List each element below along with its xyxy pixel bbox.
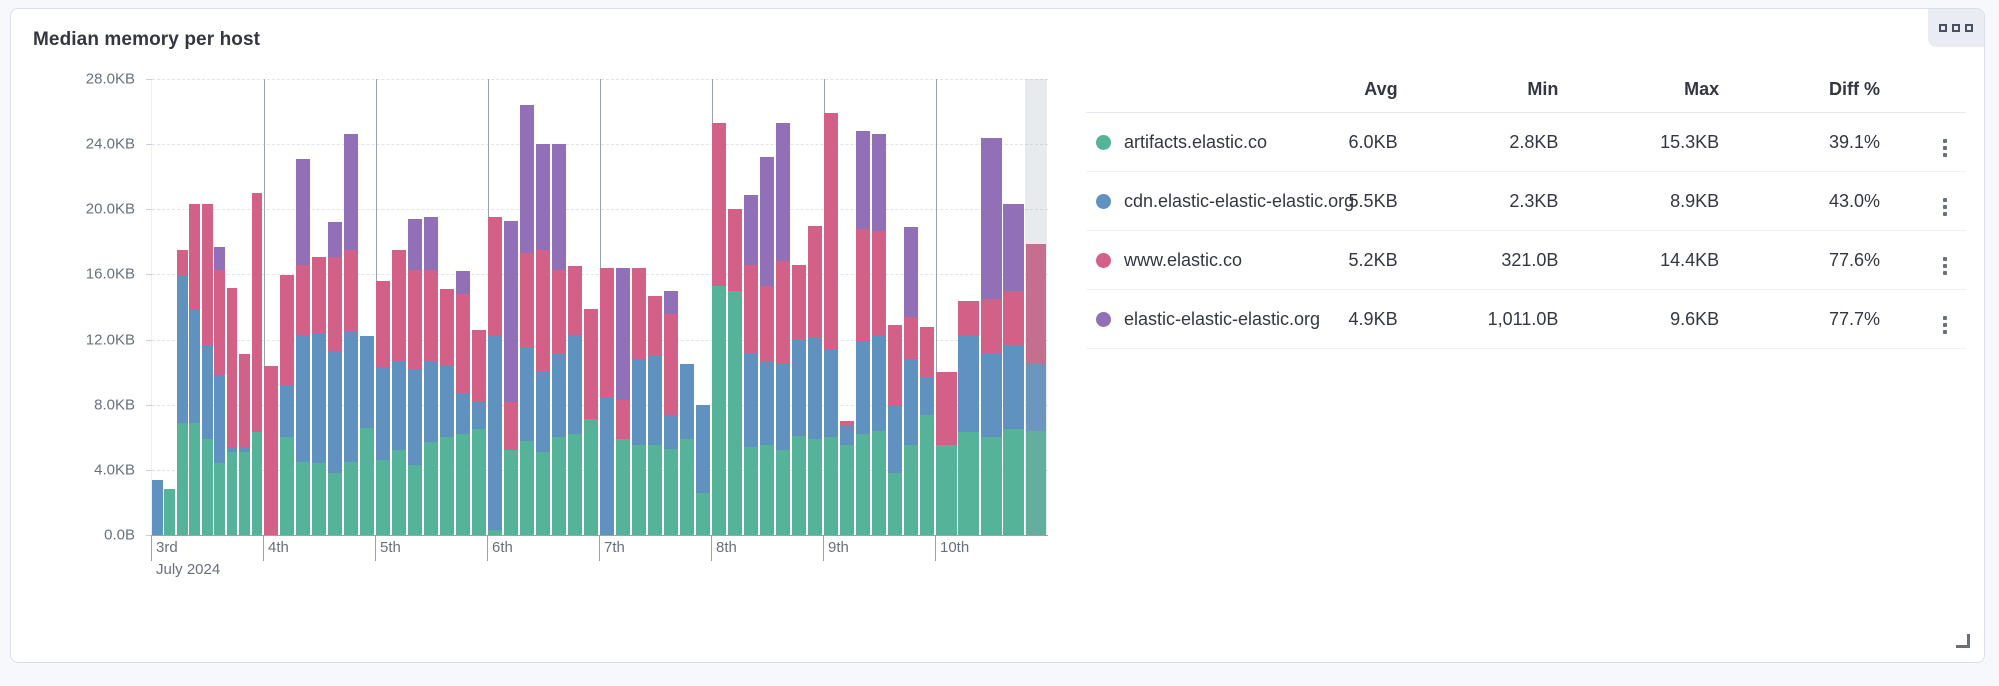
bar-segment [1003, 291, 1024, 345]
bar-segment [456, 294, 470, 393]
bar-segment [792, 436, 806, 535]
bar-stack[interactable] [904, 227, 918, 535]
bar-segment [312, 333, 326, 463]
kebab-dot [1943, 316, 1947, 320]
bar-segment [776, 364, 790, 450]
bar-segment [824, 113, 838, 349]
bar-segment [164, 489, 175, 535]
bar-segment [584, 309, 598, 420]
bar-segment [177, 423, 188, 535]
legend-series-label: cdn.elastic-elastic-elastic.org [1124, 191, 1354, 212]
bar-segment [568, 434, 582, 535]
bar-segment [981, 437, 1002, 535]
bar-segment [392, 450, 406, 535]
bar-segment [252, 193, 263, 432]
bar-stack[interactable] [296, 159, 310, 535]
bar-stack[interactable] [239, 354, 250, 535]
bar-segment [632, 445, 646, 535]
y-tick-label: 4.0KB [94, 461, 135, 478]
y-tick-label: 16.0KB [86, 266, 135, 283]
y-tickmark [146, 340, 152, 341]
bar-segment [504, 450, 518, 535]
bar-segment [344, 134, 358, 250]
x-tick-label: 5th [375, 539, 401, 556]
bar-stack[interactable] [616, 268, 630, 535]
bar-segment [888, 325, 902, 406]
legend-cell-min: 2.3KB [1408, 172, 1569, 231]
bar-segment [981, 299, 1002, 353]
bar-segment [744, 353, 758, 448]
bar-stack[interactable] [488, 217, 502, 535]
bar-segment [958, 336, 979, 432]
bar-stack[interactable] [920, 327, 934, 536]
bar-segment [712, 123, 726, 286]
bar-segment [664, 449, 678, 535]
bar-segment [440, 289, 454, 366]
legend-cell-max: 8.9KB [1568, 172, 1729, 231]
bar-stack[interactable] [664, 291, 678, 535]
bar-stack[interactable] [328, 222, 342, 535]
legend-cell-avg: 5.2KB [1247, 231, 1408, 290]
y-tick-label: 24.0KB [86, 136, 135, 153]
y-tickmark [146, 274, 152, 275]
legend-actions-cell[interactable] [1890, 172, 1966, 231]
legend-cell-diff: 39.1% [1729, 113, 1890, 172]
bar-segment [958, 301, 979, 337]
bar-stack[interactable] [728, 209, 742, 535]
bar-segment [344, 250, 358, 331]
bar-stack[interactable] [680, 364, 694, 535]
bar-segment [958, 432, 979, 535]
legend-cell-diff: 77.7% [1729, 290, 1890, 349]
bar-segment [227, 452, 238, 535]
bar-segment [776, 261, 790, 364]
bar-segment [424, 217, 438, 269]
bar-segment [488, 336, 502, 530]
bar-segment [936, 372, 957, 445]
bar-segment [189, 423, 200, 535]
dashboard-panel: Median memory per host 0.0B4.0KB8.0KB12.… [10, 8, 1985, 663]
bar-segment [328, 222, 342, 256]
bar-segment [904, 359, 918, 445]
legend-color-dot-icon [1096, 312, 1111, 327]
bar-segment [296, 159, 310, 265]
bar-segment [776, 450, 790, 535]
bar-segment [360, 336, 374, 427]
bar-segment [920, 377, 934, 415]
bar-stack[interactable] [252, 193, 263, 535]
bar-segment [904, 227, 918, 317]
bar-stack[interactable] [189, 204, 200, 535]
plot-area[interactable] [151, 79, 1048, 536]
bar-segment [520, 348, 534, 441]
x-tick-label: 6th [487, 539, 513, 556]
bar-segment [584, 419, 598, 535]
bar-segment [408, 369, 422, 465]
bar-segment [536, 250, 550, 371]
bar-segment [552, 437, 566, 535]
legend-header-row: Avg Min Max Diff % [1086, 73, 1966, 113]
bar-segment [696, 405, 710, 493]
bar-segment [872, 336, 886, 431]
legend-cell-min: 2.8KB [1408, 113, 1569, 172]
bar-segment [424, 270, 438, 361]
bar-segment [872, 431, 886, 535]
bar-stack[interactable] [824, 113, 838, 535]
bar-segment [920, 327, 934, 378]
bar-segment [239, 452, 250, 535]
bar-segment [616, 400, 630, 439]
bar-segment [632, 359, 646, 445]
bar-stack[interactable] [520, 105, 534, 535]
chart-container: 0.0B4.0KB8.0KB12.0KB16.0KB20.0KB24.0KB28… [33, 65, 1073, 635]
bar-segment [856, 229, 870, 341]
y-tickmark [146, 79, 152, 80]
resize-bar-horizontal [1956, 645, 1970, 648]
legend-col-min[interactable]: Min [1408, 73, 1569, 113]
y-tickmark [146, 209, 152, 210]
bar-segment [488, 217, 502, 336]
x-tick-label: 7th [599, 539, 625, 556]
x-tick-label: 10th [935, 539, 969, 556]
legend-cell-diff: 77.6% [1729, 231, 1890, 290]
bar-segment [152, 480, 163, 535]
y-tickmark [146, 144, 152, 145]
legend-actions-cell[interactable] [1890, 231, 1966, 290]
grip-square-3 [1965, 24, 1973, 32]
bar-segment [424, 361, 438, 442]
bar-segment [856, 131, 870, 229]
y-tick-label: 12.0KB [86, 331, 135, 348]
bar-stack[interactable] [792, 265, 806, 535]
bar-stack[interactable] [744, 195, 758, 535]
bar-segment [328, 473, 342, 535]
bar-stack[interactable] [152, 480, 163, 535]
legend-actions-cell[interactable] [1890, 290, 1966, 349]
bar-segment [408, 270, 422, 369]
bar-stack[interactable] [632, 268, 646, 535]
bar-segment [392, 361, 406, 451]
bar-stack[interactable] [280, 274, 294, 535]
bar-stack[interactable] [392, 250, 406, 535]
bar-segment [744, 447, 758, 535]
bar-segment [808, 439, 822, 535]
bar-segment [280, 437, 294, 535]
bar-stack[interactable] [600, 268, 614, 535]
legend-col-avg[interactable]: Avg [1247, 73, 1408, 113]
kebab-menu-icon[interactable] [1934, 139, 1956, 157]
bar-stack[interactable] [552, 144, 566, 535]
bar-segment [536, 452, 550, 535]
bar-segment [936, 445, 957, 535]
bar-segment [440, 366, 454, 438]
bar-stack[interactable] [360, 336, 374, 535]
kebab-dot [1943, 198, 1947, 202]
resize-corner-icon[interactable] [1956, 634, 1970, 648]
bar-stack[interactable] [177, 250, 188, 535]
bar-stack[interactable] [776, 123, 790, 535]
bar-segment [872, 230, 886, 336]
y-tick-label: 0.0B [104, 527, 135, 544]
bar-stack[interactable] [408, 219, 422, 535]
bar-segment [904, 445, 918, 535]
bar-segment [552, 270, 566, 355]
bar-segment [981, 353, 1002, 438]
legend-row[interactable]: cdn.elastic-elastic-elastic.org5.5KB2.3K… [1086, 172, 1966, 231]
bar-segment [408, 465, 422, 535]
legend-series-name-cell[interactable]: artifacts.elastic.co [1086, 113, 1247, 172]
bar-segment [239, 447, 250, 452]
x-tick-label: 9th [823, 539, 849, 556]
bar-segment [824, 349, 838, 437]
bar-segment [792, 265, 806, 340]
legend-col-max[interactable]: Max [1568, 73, 1729, 113]
bar-segment [920, 415, 934, 536]
y-tick-label: 8.0KB [94, 396, 135, 413]
bar-segment [472, 330, 486, 402]
bar-segment [328, 257, 342, 352]
screen: Median memory per host 0.0B4.0KB8.0KB12.… [0, 0, 1999, 686]
bar-stack[interactable] [648, 296, 662, 535]
y-tick-label: 28.0KB [86, 71, 135, 88]
bar-segment [189, 204, 200, 308]
bar-segment [214, 463, 225, 535]
bar-segment [520, 105, 534, 253]
y-tick-label: 20.0KB [86, 201, 135, 218]
bar-segment [1003, 429, 1024, 535]
bar-segment [568, 335, 582, 434]
bar-segment [456, 271, 470, 294]
bar-segment [296, 265, 310, 335]
bar-segment [472, 429, 486, 535]
bar-segment [392, 250, 406, 361]
bar-segment [760, 362, 774, 445]
legend-col-actions [1890, 73, 1966, 113]
bar-segment [227, 288, 238, 448]
bar-segment [840, 445, 854, 535]
bar-segment [680, 364, 694, 439]
x-tick-label: 3rd [151, 539, 178, 556]
bar-stack[interactable] [958, 301, 979, 536]
bar-stack[interactable] [840, 421, 854, 535]
kebab-dot [1943, 257, 1947, 261]
kebab-dot [1943, 264, 1947, 268]
legend-series-label: artifacts.elastic.co [1124, 132, 1267, 153]
kebab-dot [1943, 146, 1947, 150]
kebab-menu-icon[interactable] [1934, 316, 1956, 334]
bar-stack[interactable] [1003, 204, 1024, 535]
legend-table: Avg Min Max Diff % artifacts.elastic.co6… [1086, 73, 1966, 349]
bar-stack[interactable] [536, 144, 550, 535]
bar-stack[interactable] [164, 489, 175, 535]
bar-segment [227, 447, 238, 452]
legend-cell-max: 14.4KB [1568, 231, 1729, 290]
bar-segment [520, 253, 534, 348]
bar-segment [600, 268, 614, 397]
bar-segment [712, 286, 726, 535]
y-tickmark [146, 470, 152, 471]
bar-stack[interactable] [760, 157, 774, 535]
bar-stack[interactable] [344, 134, 358, 535]
bar-segment [1003, 204, 1024, 290]
legend-row[interactable]: elastic-elastic-elastic.org4.9KB1,011.0B… [1086, 290, 1966, 349]
bar-stack[interactable] [440, 289, 454, 535]
legend-cell-min: 321.0B [1408, 231, 1569, 290]
bar-stack[interactable] [808, 226, 822, 535]
bar-segment [1003, 344, 1024, 429]
kebab-dot [1943, 330, 1947, 334]
bar-stack[interactable] [936, 372, 957, 535]
bar-segment [376, 367, 390, 460]
bar-stack[interactable] [696, 405, 710, 535]
bar-segment [744, 195, 758, 265]
bar-stack[interactable] [456, 271, 470, 535]
bar-stack[interactable] [504, 221, 518, 535]
legend-series-name-cell[interactable]: elastic-elastic-elastic.org [1086, 290, 1247, 349]
bar-segment [760, 157, 774, 286]
legend-col-name [1086, 73, 1247, 113]
bar-segment [760, 445, 774, 535]
bar-segment [808, 226, 822, 338]
kebab-menu-icon[interactable] [1934, 257, 1956, 275]
legend-color-dot-icon [1096, 194, 1111, 209]
legend-color-dot-icon [1096, 253, 1111, 268]
legend-row[interactable]: artifacts.elastic.co6.0KB2.8KB15.3KB39.1… [1086, 113, 1966, 172]
bar-segment [888, 473, 902, 535]
bar-segment [888, 406, 902, 473]
bar-segment [728, 291, 742, 535]
bar-segment [312, 463, 326, 535]
bar-segment [360, 428, 374, 536]
bar-segment [376, 281, 390, 367]
bar-segment [552, 144, 566, 269]
bar-segment [456, 393, 470, 434]
grip-square-1 [1939, 24, 1947, 32]
kebab-dot [1943, 153, 1947, 157]
bar-segment [840, 421, 854, 426]
bar-segment [872, 134, 886, 230]
bar-segment [840, 426, 854, 446]
bar-segment [214, 247, 225, 270]
kebab-dot [1943, 205, 1947, 209]
x-axis: 3rdJuly 20244th5th6th7th8th9th10th [151, 535, 1047, 595]
bar-segment [808, 338, 822, 439]
bar-stack[interactable] [981, 138, 1002, 535]
page-title: Median memory per host [33, 29, 260, 51]
bar-segment [600, 397, 614, 535]
bar-segment [296, 462, 310, 535]
legend-series-name-cell[interactable]: cdn.elastic-elastic-elastic.org [1086, 172, 1247, 231]
bar-stack[interactable] [872, 134, 886, 535]
kebab-menu-icon[interactable] [1934, 198, 1956, 216]
bar-segment [632, 268, 646, 359]
bar-segment [552, 354, 566, 437]
x-axis-period-label: July 2024 [151, 561, 220, 578]
bar-segment [214, 375, 225, 463]
bar-segment [202, 204, 213, 344]
bar-segment [981, 138, 1002, 299]
bar-segment [504, 401, 518, 450]
bar-segment [189, 309, 200, 423]
legend-series-name-cell[interactable]: www.elastic.co [1086, 231, 1247, 290]
bar-segment [520, 441, 534, 536]
legend-series-label: elastic-elastic-elastic.org [1124, 309, 1320, 330]
bar-segment [504, 221, 518, 402]
legend-cell-min: 1,011.0B [1408, 290, 1569, 349]
bar-stack[interactable] [712, 123, 726, 535]
bar-segment [202, 439, 213, 535]
grip-square-2 [1952, 24, 1960, 32]
bar-segment [536, 144, 550, 250]
bar-stack[interactable] [214, 247, 225, 535]
bar-stack[interactable] [264, 366, 278, 535]
x-tick-label: 8th [711, 539, 737, 556]
bar-segment [664, 291, 678, 314]
kebab-dot [1943, 271, 1947, 275]
legend-col-diff[interactable]: Diff % [1729, 73, 1890, 113]
bar-segment [792, 340, 806, 436]
bar-segment [472, 401, 486, 429]
bar-segment [456, 434, 470, 535]
bar-stack[interactable] [312, 257, 326, 536]
bar-segment [904, 317, 918, 359]
bar-segment [280, 385, 294, 437]
bar-segment [568, 266, 582, 334]
bar-segment [648, 445, 662, 535]
bar-stack[interactable] [376, 281, 390, 535]
bar-segment [264, 366, 278, 535]
bar-stack[interactable] [856, 131, 870, 535]
bar-segment [280, 275, 294, 386]
grip-three-squares-icon[interactable] [1928, 9, 1984, 47]
legend-actions-cell[interactable] [1890, 113, 1966, 172]
bar-stack[interactable] [568, 266, 582, 535]
legend-row[interactable]: www.elastic.co5.2KB321.0B14.4KB77.6% [1086, 231, 1966, 290]
bar-segment [296, 335, 310, 462]
bar-segment [776, 123, 790, 261]
bar-stack[interactable] [227, 288, 238, 536]
legend-cell-max: 15.3KB [1568, 113, 1729, 172]
bar-stack[interactable] [584, 309, 598, 535]
bar-segment [252, 432, 263, 535]
bar-segment [664, 314, 678, 415]
bar-segment [696, 493, 710, 535]
bar-stack[interactable] [472, 330, 486, 535]
bar-stack[interactable] [888, 325, 902, 535]
bar-segment [680, 439, 694, 535]
bar-segment [214, 270, 225, 376]
bar-segment [616, 439, 630, 535]
kebab-dot [1943, 323, 1947, 327]
bar-stack[interactable] [424, 217, 438, 535]
bar-segment [376, 460, 390, 535]
bar-segment [744, 265, 758, 353]
kebab-dot [1943, 212, 1947, 216]
bar-segment [177, 250, 188, 276]
bar-segment [177, 276, 188, 423]
bar-segment [856, 341, 870, 434]
bar-segment [856, 434, 870, 535]
legend-cell-diff: 43.0% [1729, 172, 1890, 231]
bar-stack[interactable] [202, 204, 213, 535]
bar-segment [440, 437, 454, 535]
bar-segment [312, 257, 326, 334]
bar-segment [408, 219, 422, 270]
bar-segment [344, 331, 358, 461]
bar-segment [616, 268, 630, 400]
x-tick-label: 4th [263, 539, 289, 556]
bar-segment [760, 286, 774, 363]
